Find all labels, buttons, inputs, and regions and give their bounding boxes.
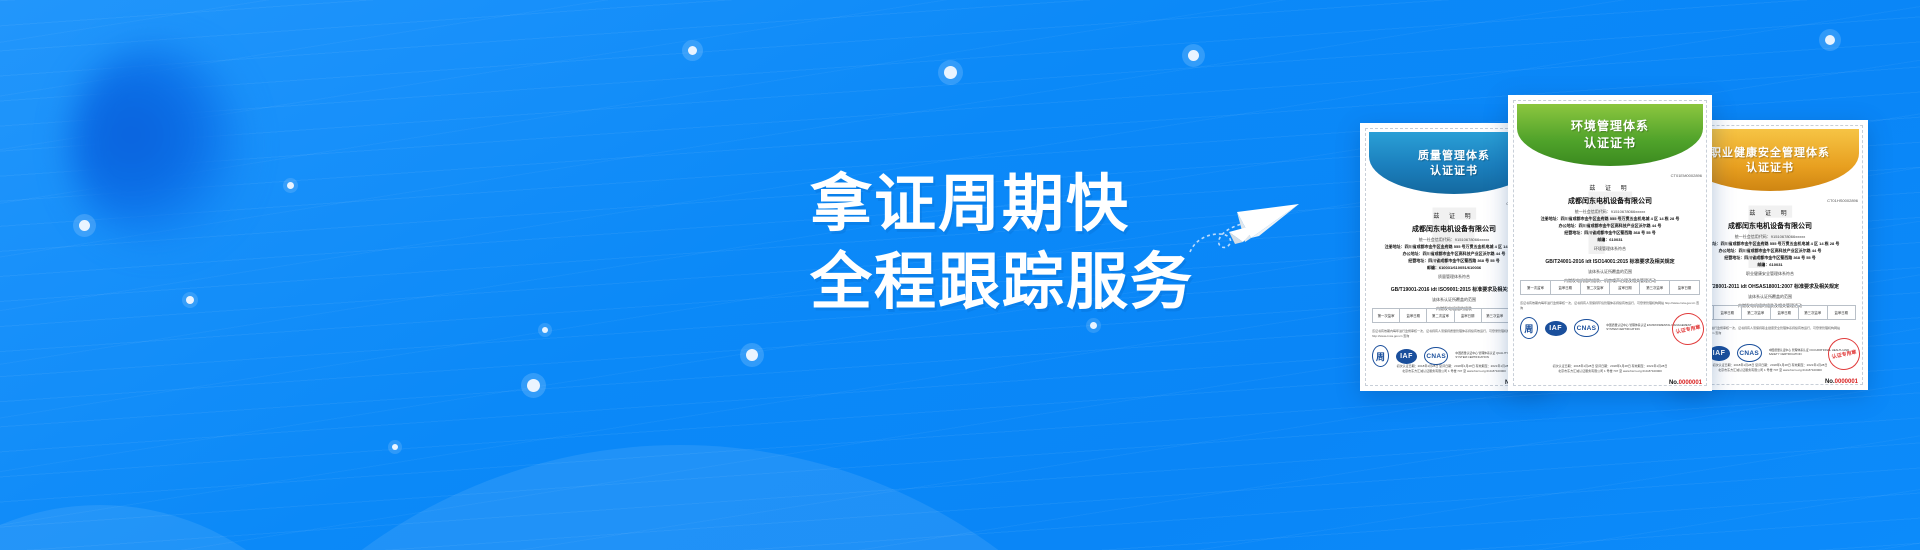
decorative-dot (1188, 50, 1199, 61)
table-cell: 监审日期 (1828, 306, 1856, 319)
certificate-number-top: CT01HS0002896 (1827, 198, 1858, 203)
table-cell: 监审日期 (1670, 281, 1699, 294)
decorative-dot (392, 444, 398, 450)
headline-line-1: 拿证周期快 (810, 165, 1194, 243)
banner-headline: 拿证周期快 全程跟踪服务 (810, 165, 1194, 321)
table-cell: 监审日期 (1551, 281, 1581, 294)
decorative-dot (746, 349, 758, 361)
issuer-info: 北京市东方汇诚认证服务有限公司 1 号楼 707 室 www.hxcn.org … (1520, 369, 1700, 373)
certificate-standard: GB/T24001-2016 idt ISO14001:2015 标准要求及相关… (1520, 258, 1700, 265)
table-cell: 第二次监审 (1427, 309, 1454, 322)
serial-label: No. (1669, 380, 1679, 386)
certificate-note: 该证书有效期内每年进行监督审核一次，证书持有人须保持环境管理体系持续有效运行，可… (1520, 301, 1700, 310)
certificate-scope-label: 该体系认证所覆盖的范围 (1520, 269, 1700, 275)
decorative-circle-large (145, 445, 1215, 550)
decorative-dot (527, 379, 540, 392)
certificate-title-line1: 职业健康安全管理体系 (1710, 145, 1830, 160)
table-cell: 第三次监审 (1799, 306, 1828, 319)
certificate-system-label: 环境管理体系符合 (1520, 246, 1700, 252)
cnas-logo-icon: CNAS (1737, 344, 1762, 362)
paper-plane-icon (1185, 190, 1305, 260)
certificate-company: 成都闰东电机设备有限公司 (1520, 196, 1700, 206)
decorative-dot (542, 327, 548, 333)
iaf-logo-icon: IAF (1545, 321, 1567, 336)
table-cell: 监审日期 (1455, 309, 1482, 322)
decorative-dot (688, 46, 697, 55)
certificate-environmental-management[interactable]: 环境管理体系 认证证书 CT01EM0002896 F 兹 证 明 成都闰东电机… (1508, 95, 1712, 391)
certificate-group: 质量管理体系 认证证书 CT01MQ0002896 F 兹 证 明 成都闰东电机… (1360, 95, 1920, 475)
certificate-title-line2: 认证证书 (1430, 163, 1478, 178)
certificate-credit-code: 统一社会信用代码：91510678066xxxxx (1520, 209, 1700, 215)
table-cell: 第二次监审 (1581, 281, 1611, 294)
certificate-address-office: 办公地址：四川省成都市金牛区高科技产业区沃尔路 44 号 (1520, 223, 1700, 229)
certificate-audit-table: 第一次监审 监审日期 第二次监审 监审日期 第三次监审 监审日期 (1520, 280, 1700, 295)
table-cell: 第三次监审 (1482, 309, 1509, 322)
certificate-serial: No.0000001 (1825, 379, 1858, 385)
certificate-statement: 兹 证 明 (1520, 183, 1700, 192)
certificate-number-top: CT01EM0002896 (1671, 173, 1702, 178)
table-cell: 第一次监审 (1373, 309, 1400, 322)
decorative-circle-small (0, 505, 360, 550)
decorative-dot (944, 66, 957, 79)
iaf-logo-icon: IAF (1396, 349, 1417, 364)
headline-line-2: 全程跟踪服务 (810, 243, 1194, 321)
decorative-dot (79, 220, 90, 231)
decorative-dot (186, 296, 194, 304)
certificate-postcode: 邮编：610031 (1520, 237, 1700, 243)
table-cell: 监审日期 (1610, 281, 1640, 294)
decorative-dot (1825, 35, 1835, 45)
table-cell: 第二次监审 (1742, 306, 1771, 319)
certificate-body: 兹 证 明 成都闰东电机设备有限公司 统一社会信用代码：91510678066x… (1520, 183, 1700, 287)
cnas-logo-icon: CNAS (1574, 319, 1600, 337)
certificate-address-operate: 经营地址：四川省成都市金牛区蜀西路 368 号 55 号 (1520, 230, 1700, 236)
certificate-title-line2: 认证证书 (1746, 160, 1794, 175)
certificate-title-line1: 环境管理体系 (1571, 118, 1649, 135)
serial-value: 0000001 (1679, 380, 1702, 386)
decorative-dot (1090, 322, 1097, 329)
certificate-issue-info: 初次认证日期：2018年1月28日 复评日期：2018年1月28日 有效期至：2… (1520, 364, 1700, 373)
table-cell: 第三次监审 (1640, 281, 1670, 294)
cqc-logo-icon: 周 (1520, 317, 1538, 339)
table-cell: 监审日期 (1714, 306, 1743, 319)
certificate-title-line2: 认证证书 (1584, 135, 1636, 152)
table-cell: 监审日期 (1400, 309, 1427, 322)
decorative-dot (287, 182, 294, 189)
certificate-address-registered: 注册地址：四川省成都市金牛区金府路 555 号万贯五金机电城 4 区 14 栋 … (1520, 216, 1700, 222)
certificate-title-line1: 质量管理体系 (1418, 148, 1490, 163)
blurred-blue-blob (70, 45, 245, 245)
certificate-serial: No.0000001 (1669, 380, 1702, 386)
table-cell: 监审日期 (1771, 306, 1800, 319)
cnas-logo-icon: CNAS (1424, 347, 1448, 365)
serial-label: No. (1825, 379, 1835, 385)
serial-value: 0000001 (1835, 379, 1858, 385)
table-cell: 第一次监审 (1521, 281, 1551, 294)
promo-banner: 拿证周期快 全程跟踪服务 质量管理体系 认证证书 CT01MQ0002896 F… (0, 0, 1920, 550)
